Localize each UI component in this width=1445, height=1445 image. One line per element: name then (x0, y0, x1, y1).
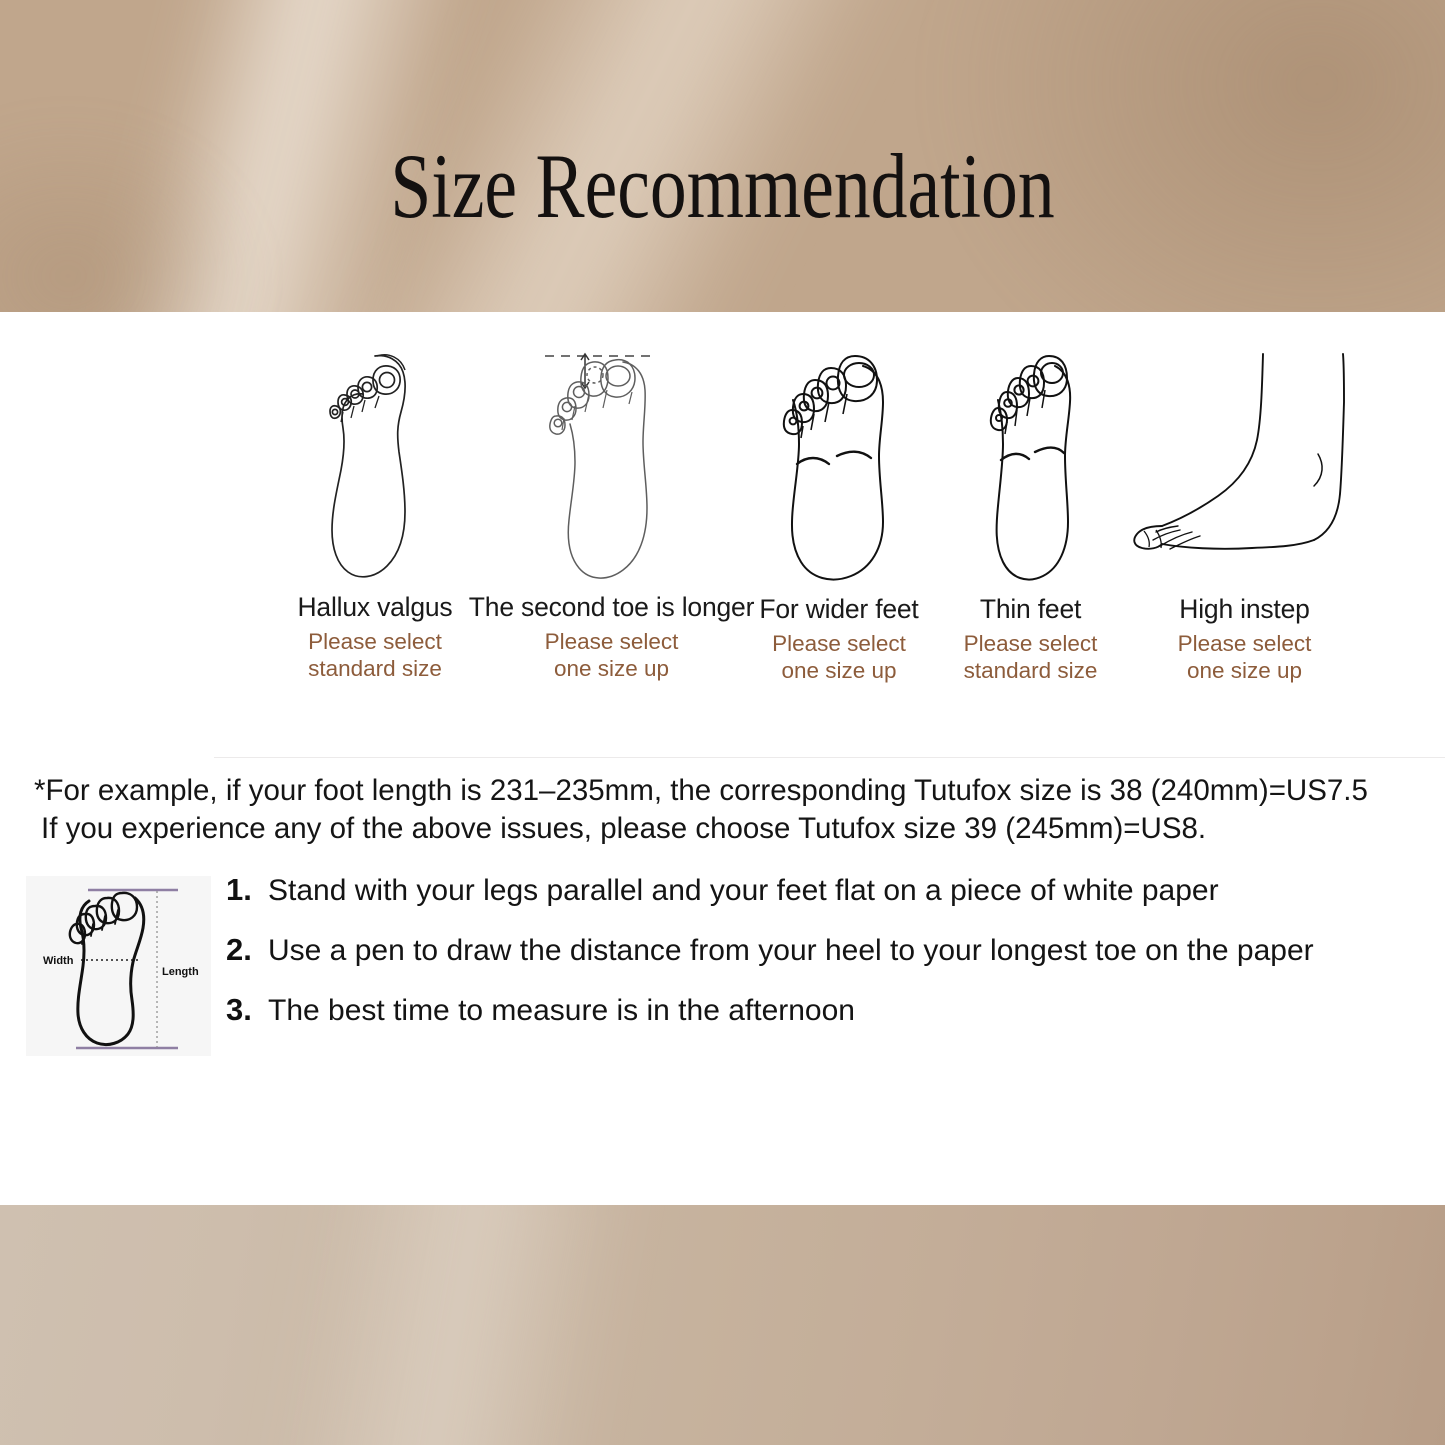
foot-type-title: Hallux valgus (297, 592, 452, 623)
foot-type-note: Please select standard size (308, 628, 442, 683)
foot-type-card-high-instep: High instep Please select one size up (1129, 340, 1361, 685)
step-number: 1. (226, 872, 268, 908)
step-text: Use a pen to draw the distance from your… (268, 934, 1314, 968)
foot-type-note-line1: Please select (545, 629, 679, 654)
foot-sole-wide-icon (759, 340, 919, 588)
foot-type-note-line2: standard size (964, 658, 1098, 683)
foot-type-card-wider-feet: For wider feet Please select one size up (746, 340, 933, 685)
foot-type-note: Please select one size up (772, 630, 906, 685)
foot-type-note-line1: Please select (308, 629, 442, 654)
bottom-band (0, 1205, 1445, 1445)
foot-type-title: Thin feet (980, 594, 1081, 625)
step-text: The best time to measure is in the after… (268, 994, 855, 1028)
example-note-line2: If you experience any of the above issue… (34, 810, 1429, 848)
foot-type-note-line2: standard size (308, 656, 442, 681)
foot-type-title: High instep (1179, 594, 1309, 625)
example-note: *For example, if your foot length is 231… (34, 772, 1429, 849)
foot-type-note-line1: Please select (964, 631, 1098, 656)
foot-types-row: Hallux valgus Please select standard siz… (0, 340, 1445, 720)
page-title: Size Recommendation (145, 140, 1301, 232)
size-recommendation-page: Size Recommendation (0, 0, 1445, 1445)
measure-width-label: Width (43, 955, 74, 967)
measure-steps-section: Width Length 1. Stand with your legs par… (26, 876, 1426, 1062)
step-item: 2. Use a pen to draw the distance from y… (226, 932, 1426, 992)
foot-type-card-hallux-valgus: Hallux valgus Please select standard siz… (273, 340, 478, 683)
step-item: 1. Stand with your legs parallel and you… (226, 872, 1426, 932)
foot-type-note: Please select standard size (964, 630, 1098, 685)
foot-type-note: Please select one size up (545, 628, 679, 683)
foot-sole-thin-icon (969, 340, 1093, 588)
foot-type-card-thin-feet: Thin feet Please select standard size (933, 340, 1129, 685)
foot-type-note-line2: one size up (554, 656, 669, 681)
foot-type-note-line2: one size up (1187, 658, 1302, 683)
section-divider (214, 757, 1445, 758)
header-band: Size Recommendation (0, 0, 1445, 312)
foot-type-card-second-toe-longer: The second toe is longer Please select o… (478, 340, 746, 683)
foot-type-title: For wider feet (759, 594, 918, 625)
foot-type-note: Please select one size up (1178, 630, 1312, 685)
foot-type-note-line2: one size up (781, 658, 896, 683)
foot-type-title: The second toe is longer (469, 592, 754, 623)
foot-side-profile-icon (1122, 340, 1367, 588)
example-note-line1: *For example, if your foot length is 231… (34, 772, 1429, 810)
steps-list: 1. Stand with your legs parallel and you… (226, 872, 1426, 1052)
foot-sole-second-toe-longer-icon (537, 340, 687, 588)
step-item: 3. The best time to measure is in the af… (226, 992, 1426, 1052)
measure-length-label: Length (162, 966, 199, 978)
foot-type-note-line1: Please select (772, 631, 906, 656)
step-number: 2. (226, 932, 268, 968)
step-number: 3. (226, 992, 268, 1028)
foot-measurement-diagram-icon: Width Length (26, 876, 211, 1056)
foot-type-note-line1: Please select (1178, 631, 1312, 656)
step-text: Stand with your legs parallel and your f… (268, 874, 1219, 908)
foot-sole-hallux-valgus-icon (315, 340, 435, 588)
bottom-light-streak (266, 1205, 634, 1445)
